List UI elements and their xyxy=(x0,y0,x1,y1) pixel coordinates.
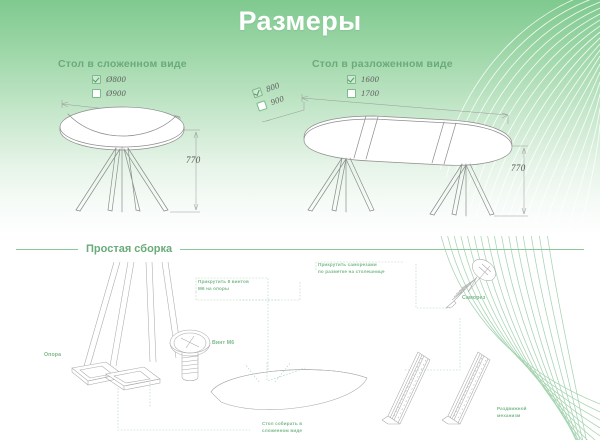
callout-mechanism-name: Раздвижной механизм xyxy=(497,406,527,419)
option-row-d800[interactable]: Ø800 xyxy=(92,73,126,85)
section-heading-folded: Стол в сложенном виде xyxy=(58,58,187,70)
slide-mechanism-drawing xyxy=(372,350,532,436)
callout-screw-name: Саморез xyxy=(462,295,485,303)
callout-support-name: Опора xyxy=(44,352,61,360)
checkbox-1600-checked-icon[interactable] xyxy=(347,75,356,84)
unfolded-table-drawing xyxy=(262,86,542,221)
checkbox-d800-checked-icon[interactable] xyxy=(92,75,101,84)
option-label-d800: Ø800 xyxy=(106,74,126,84)
poster-root: Размеры Стол в сложенном виде Ø800 Ø900 xyxy=(0,0,600,440)
folded-table-drawing xyxy=(50,86,250,221)
callout-fold-note: Стол собирать в сложенном виде xyxy=(262,421,302,434)
support-legs-drawing xyxy=(10,262,180,412)
page-title: Размеры xyxy=(0,6,600,37)
section-heading-unfolded: Стол в разложенном виде xyxy=(312,58,453,70)
option-row-1600[interactable]: 1600 xyxy=(347,73,379,85)
option-label-1600: 1600 xyxy=(361,74,379,84)
assembly-divider-left xyxy=(16,249,78,250)
dimension-height-unfolded: 770 xyxy=(511,163,526,173)
assembly-section-header: Простая сборка xyxy=(0,240,600,258)
assembly-divider-right xyxy=(180,249,584,250)
screw-drawing xyxy=(438,258,500,314)
dimension-height-folded: 770 xyxy=(186,155,201,165)
callout-attach-bolts: Прикрутить 8 винтов М6 на опоры xyxy=(198,279,249,292)
assembly-heading: Простая сборка xyxy=(78,243,180,255)
callout-attach-screws: Прикрутить саморезами по разметке на сто… xyxy=(318,262,385,275)
callout-bolt-name: Винт М6 xyxy=(212,340,234,348)
